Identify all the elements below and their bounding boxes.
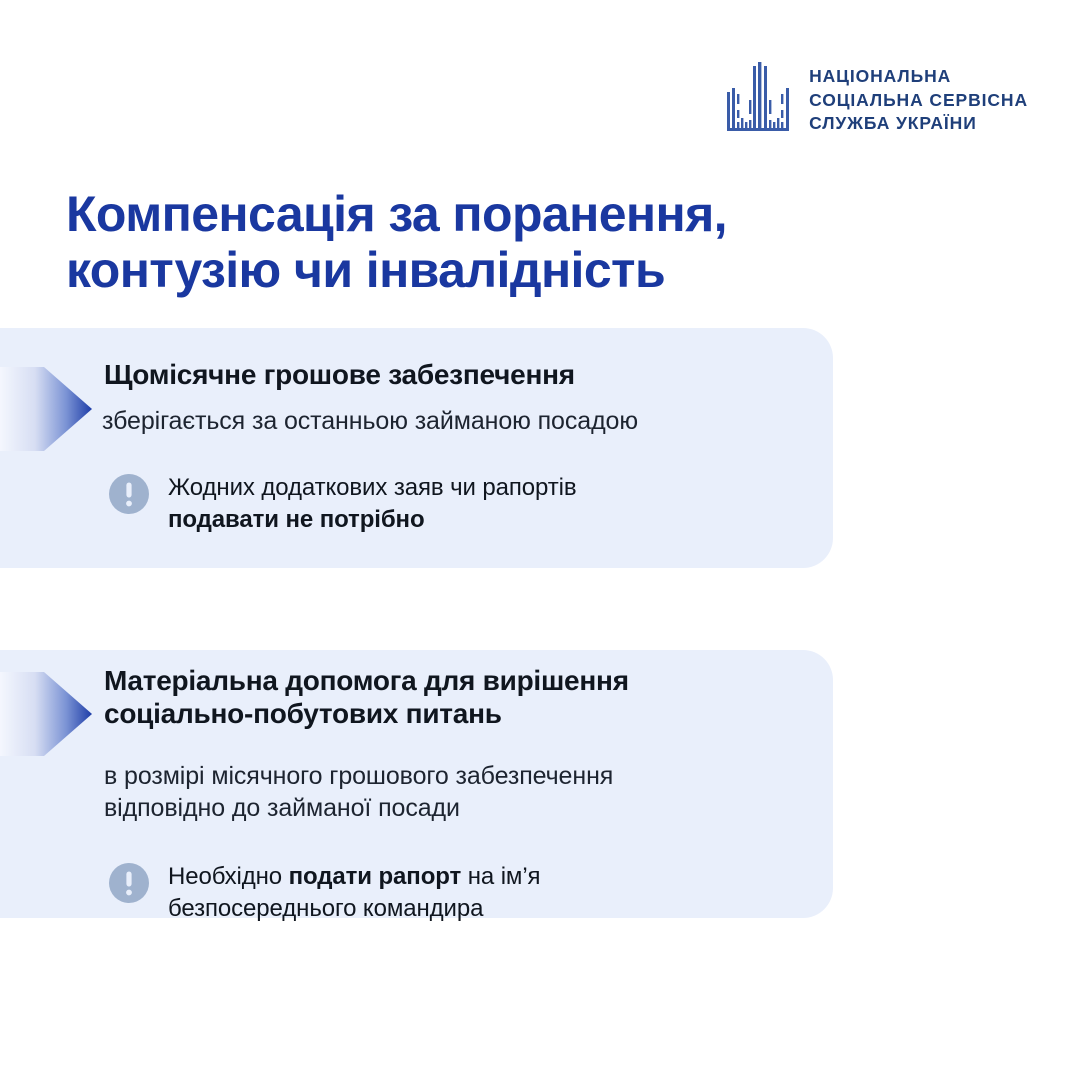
card-2-note-line-1: Необхідно подати рапорт на ім’я <box>168 861 540 893</box>
card-2-note: Необхідно подати рапорт на ім’я безпосер… <box>108 860 803 924</box>
page-title: Компенсація за поранення, контузію чи ін… <box>66 186 946 298</box>
card-2-note-text: Необхідно подати рапорт на ім’я безпосер… <box>168 860 540 924</box>
brand-name: НАЦІОНАЛЬНА СОЦІАЛЬНА СЕРВІСНА СЛУЖБА УК… <box>809 66 1028 134</box>
card-1-note-text: Жодних додаткових заяв чи рапортів подав… <box>168 471 577 535</box>
card-2-body: Матеріальна допомога для вирішення соціа… <box>104 664 803 924</box>
chevron-right-gradient-icon <box>0 666 92 762</box>
card-1-note: Жодних додаткових заяв чи рапортів подав… <box>108 471 803 535</box>
brand-name-line-3: СЛУЖБА УКРАЇНИ <box>809 113 1028 134</box>
card-2-heading: Матеріальна допомога для вирішення соціа… <box>104 664 803 730</box>
card-1-subtitle: зберігається за останньою займаною посад… <box>102 405 803 437</box>
card-1-subtitle-line-1: зберігається за останньою займаною посад… <box>102 405 803 437</box>
benefit-card-material-aid: Матеріальна допомога для вирішення соціа… <box>0 650 833 918</box>
exclamation-circle-icon <box>108 473 150 515</box>
card-1-note-line-2: подавати не потрібно <box>168 504 577 536</box>
card-1-body: Щомісячне грошове забезпечення зберігаєт… <box>104 358 803 535</box>
brand-logo: НАЦІОНАЛЬНА СОЦІАЛЬНА СЕРВІСНА СЛУЖБА УК… <box>725 58 1028 142</box>
card-2-subtitle: в розмірі місячного грошового забезпечен… <box>104 760 803 824</box>
card-2-note-prefix: Необхідно <box>168 863 289 890</box>
card-1-heading-line-1: Щомісячне грошове забезпечення <box>104 358 803 391</box>
brand-name-line-1: НАЦІОНАЛЬНА <box>809 66 1028 87</box>
card-2-heading-line-1: Матеріальна допомога для вирішення <box>104 664 803 697</box>
card-2-note-line-2: безпосереднього командира <box>168 893 540 925</box>
card-2-subtitle-line-2: відповідно до займаної посади <box>104 792 803 824</box>
page-title-line-1: Компенсація за поранення, <box>66 186 946 242</box>
chevron-right-gradient-icon <box>0 361 92 457</box>
card-2-subtitle-line-1: в розмірі місячного грошового забезпечен… <box>104 760 803 792</box>
brand-name-line-2: СОЦІАЛЬНА СЕРВІСНА <box>809 90 1028 111</box>
card-2-heading-line-2: соціально-побутових питань <box>104 697 803 730</box>
page-title-line-2: контузію чи інвалідність <box>66 242 946 298</box>
card-2-note-bold: подати рапорт <box>289 863 462 890</box>
card-1-note-line-1: Жодних додаткових заяв чи рапортів <box>168 472 577 504</box>
benefit-card-monthly-allowance: Щомісячне грошове забезпечення зберігаєт… <box>0 328 833 568</box>
card-2-note-suffix: на ім’я <box>461 863 540 890</box>
infographic-page: { "brand": { "logo_icon": "nssu-bars-tri… <box>0 0 1080 1080</box>
exclamation-circle-icon <box>108 862 150 904</box>
card-1-heading: Щомісячне грошове забезпечення <box>104 358 803 391</box>
card-1-note-line-2-bold: подавати не потрібно <box>168 506 425 533</box>
nssu-bars-trident-logo-icon <box>725 58 791 142</box>
